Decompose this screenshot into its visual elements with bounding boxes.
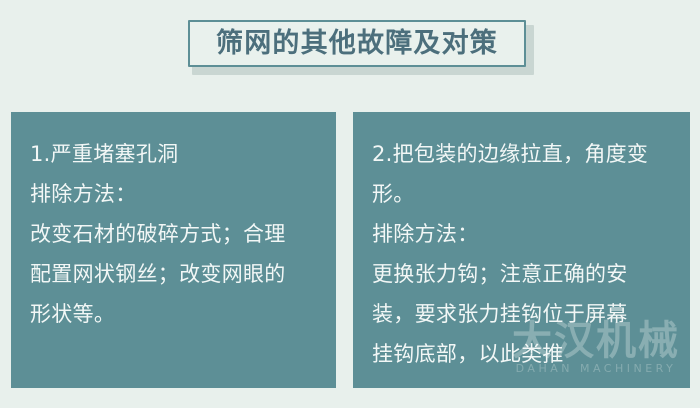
panel-left-text-block: 1.严重堵塞孔洞 排除方法： 改变石材的破碎方式；合理 配置网状钢丝；改变网眼的…: [11, 112, 336, 334]
panel-right-line-3: 排除方法：: [372, 214, 676, 254]
panel-left-line-1: 1.严重堵塞孔洞: [30, 134, 322, 174]
content-panel-left: 1.严重堵塞孔洞 排除方法： 改变石材的破碎方式；合理 配置网状钢丝；改变网眼的…: [11, 112, 336, 388]
panel-right-line-2: 形。: [372, 174, 676, 214]
panel-right-text-block: 2.把包装的边缘拉直，角度变 形。 排除方法： 更换张力钩；注意正确的安 装，要…: [353, 112, 690, 374]
panel-right-line-6: 挂钩底部，以此类推: [372, 334, 676, 374]
panel-left-line-2: 排除方法：: [30, 174, 322, 214]
panel-right-line-5: 装，要求张力挂钩位于屏幕: [372, 294, 676, 334]
panel-right-line-1: 2.把包装的边缘拉直，角度变: [372, 134, 676, 174]
panel-right-line-4: 更换张力钩；注意正确的安: [372, 254, 676, 294]
content-panel-right: 2.把包装的边缘拉直，角度变 形。 排除方法： 更换张力钩；注意正确的安 装，要…: [353, 112, 690, 388]
panel-left-line-4: 配置网状钢丝；改变网眼的: [30, 254, 322, 294]
panel-left-line-5: 形状等。: [30, 294, 322, 334]
slide-canvas: 筛网的其他故障及对策 1.严重堵塞孔洞 排除方法： 改变石材的破碎方式；合理 配…: [0, 0, 700, 408]
title-box: 筛网的其他故障及对策: [188, 20, 526, 67]
page-title: 筛网的其他故障及对策: [216, 30, 498, 57]
panel-left-line-3: 改变石材的破碎方式；合理: [30, 214, 322, 254]
